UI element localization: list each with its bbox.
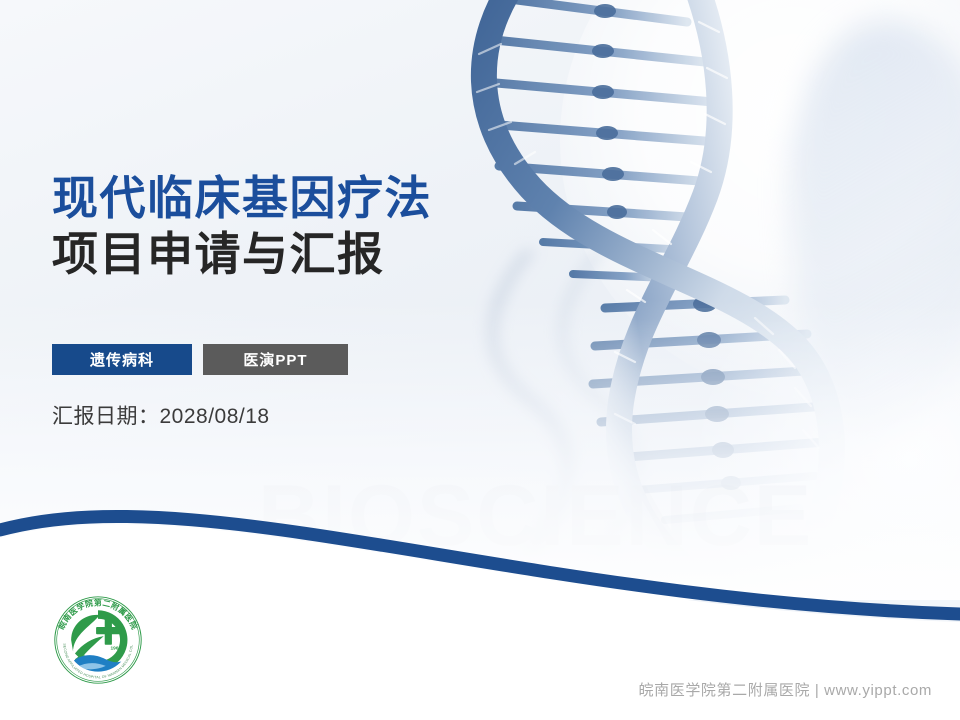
title-line-primary: 现代临床基因疗法 [52,170,432,226]
title-line-secondary: 项目申请与汇报 [52,226,432,282]
hospital-logo-icon: 皖南医学院第二附属医院 THE SECOND AFFILIATED HOSPIT… [50,592,146,688]
footer-credit: 皖南医学院第二附属医院 | www.yippt.com [639,679,932,700]
svg-text:1968: 1968 [110,646,121,652]
title-slide: BIOSCIENCE [0,0,960,720]
report-date: 汇报日期：2028/08/18 [52,400,270,430]
badge-brand[interactable]: 医演PPT [203,344,348,375]
page-title: 现代临床基因疗法 项目申请与汇报 [52,170,432,282]
badge-department[interactable]: 遗传病科 [52,344,192,375]
badge-row: 遗传病科 医演PPT [52,344,348,375]
